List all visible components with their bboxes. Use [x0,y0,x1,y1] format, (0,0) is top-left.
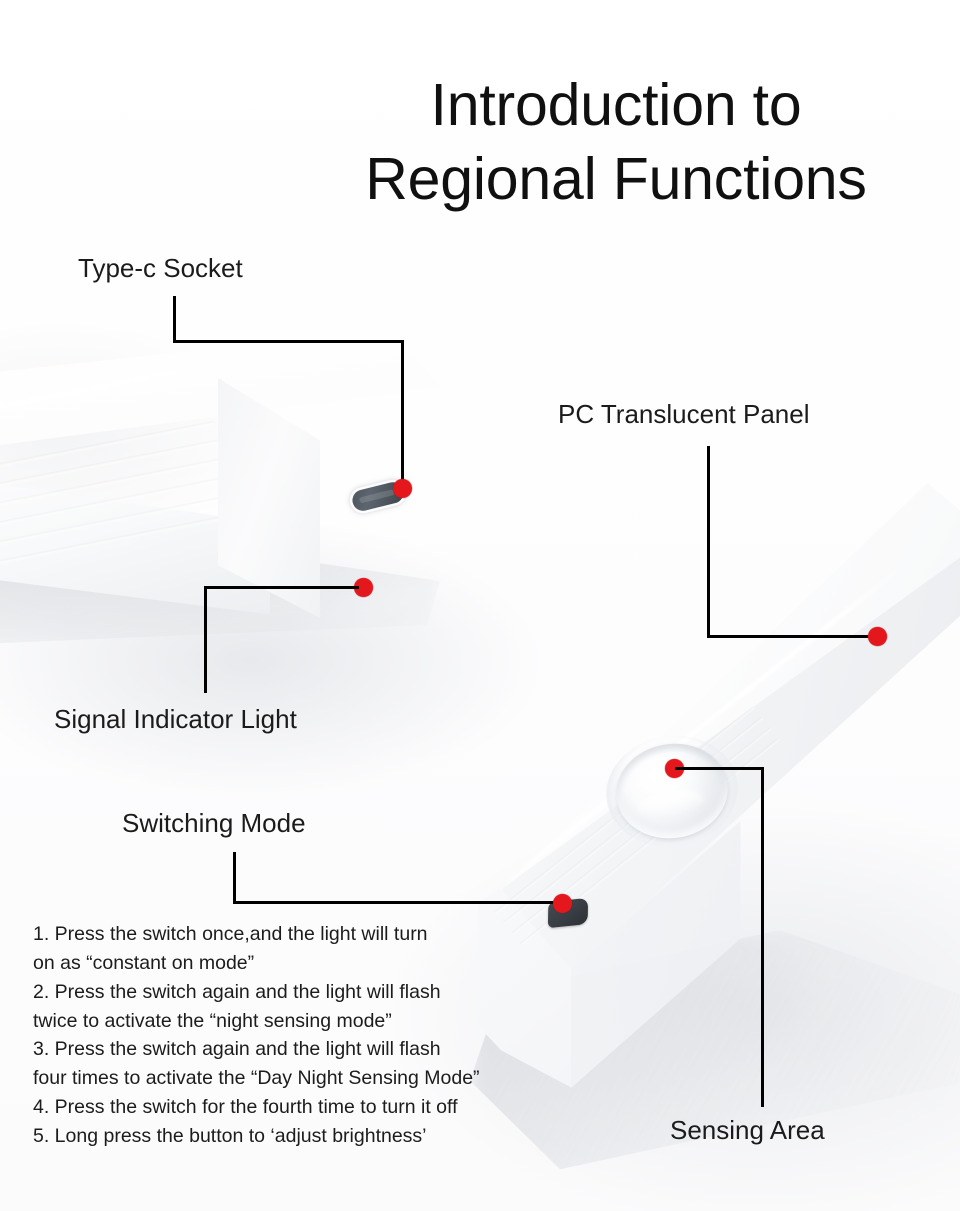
page-title-line-1: Introduction to [306,68,926,142]
instruction-line: 5. Long press the button to ‘adjust brig… [33,1122,533,1151]
callout-label-signal-indicator-light: Signal Indicator Light [54,705,297,734]
callout-marker-pc-translucent-panel [868,627,887,646]
leader-sensing-vertical [761,767,764,1107]
leader-type-c-horizontal [173,340,404,343]
leader-type-c-vertical [401,340,404,488]
leader-sensing-horizontal [675,767,764,770]
left-light-bar [0,330,460,630]
instruction-line: 4. Press the switch for the fourth time … [33,1093,533,1122]
callout-label-pc-translucent-panel: PC Translucent Panel [558,400,809,429]
instruction-line: 2. Press the switch again and the light … [33,978,533,1007]
leader-pc-panel-vertical [707,446,710,638]
instruction-line: on as “constant on mode” [33,949,533,978]
callout-label-sensing-area: Sensing Area [670,1116,825,1145]
page-title-line-2: Regional Functions [306,142,926,216]
regional-functions-infographic: Introduction to Regional Functions Type-… [0,0,960,1211]
switching-mode-instructions: 1. Press the switch once,and the light w… [33,920,533,1151]
callout-marker-type-c-socket [393,479,412,498]
leader-signal-horizontal [204,586,359,589]
callout-label-switching-mode: Switching Mode [122,809,306,838]
instruction-line: four times to activate the “Day Night Se… [33,1064,533,1093]
callout-marker-switching-mode [553,894,572,913]
instruction-line: twice to activate the “night sensing mod… [33,1007,533,1036]
leader-type-c-stub [173,296,176,342]
leader-switching-stub [233,852,236,904]
instruction-line: 3. Press the switch again and the light … [33,1035,533,1064]
instruction-line: 1. Press the switch once,and the light w… [33,920,533,949]
leader-switching-horizontal [233,901,563,904]
leader-signal-vertical [204,586,207,693]
leader-pc-panel-horizontal [707,635,879,638]
callout-label-type-c-socket: Type-c Socket [78,254,243,283]
page-title: Introduction to Regional Functions [306,68,926,217]
